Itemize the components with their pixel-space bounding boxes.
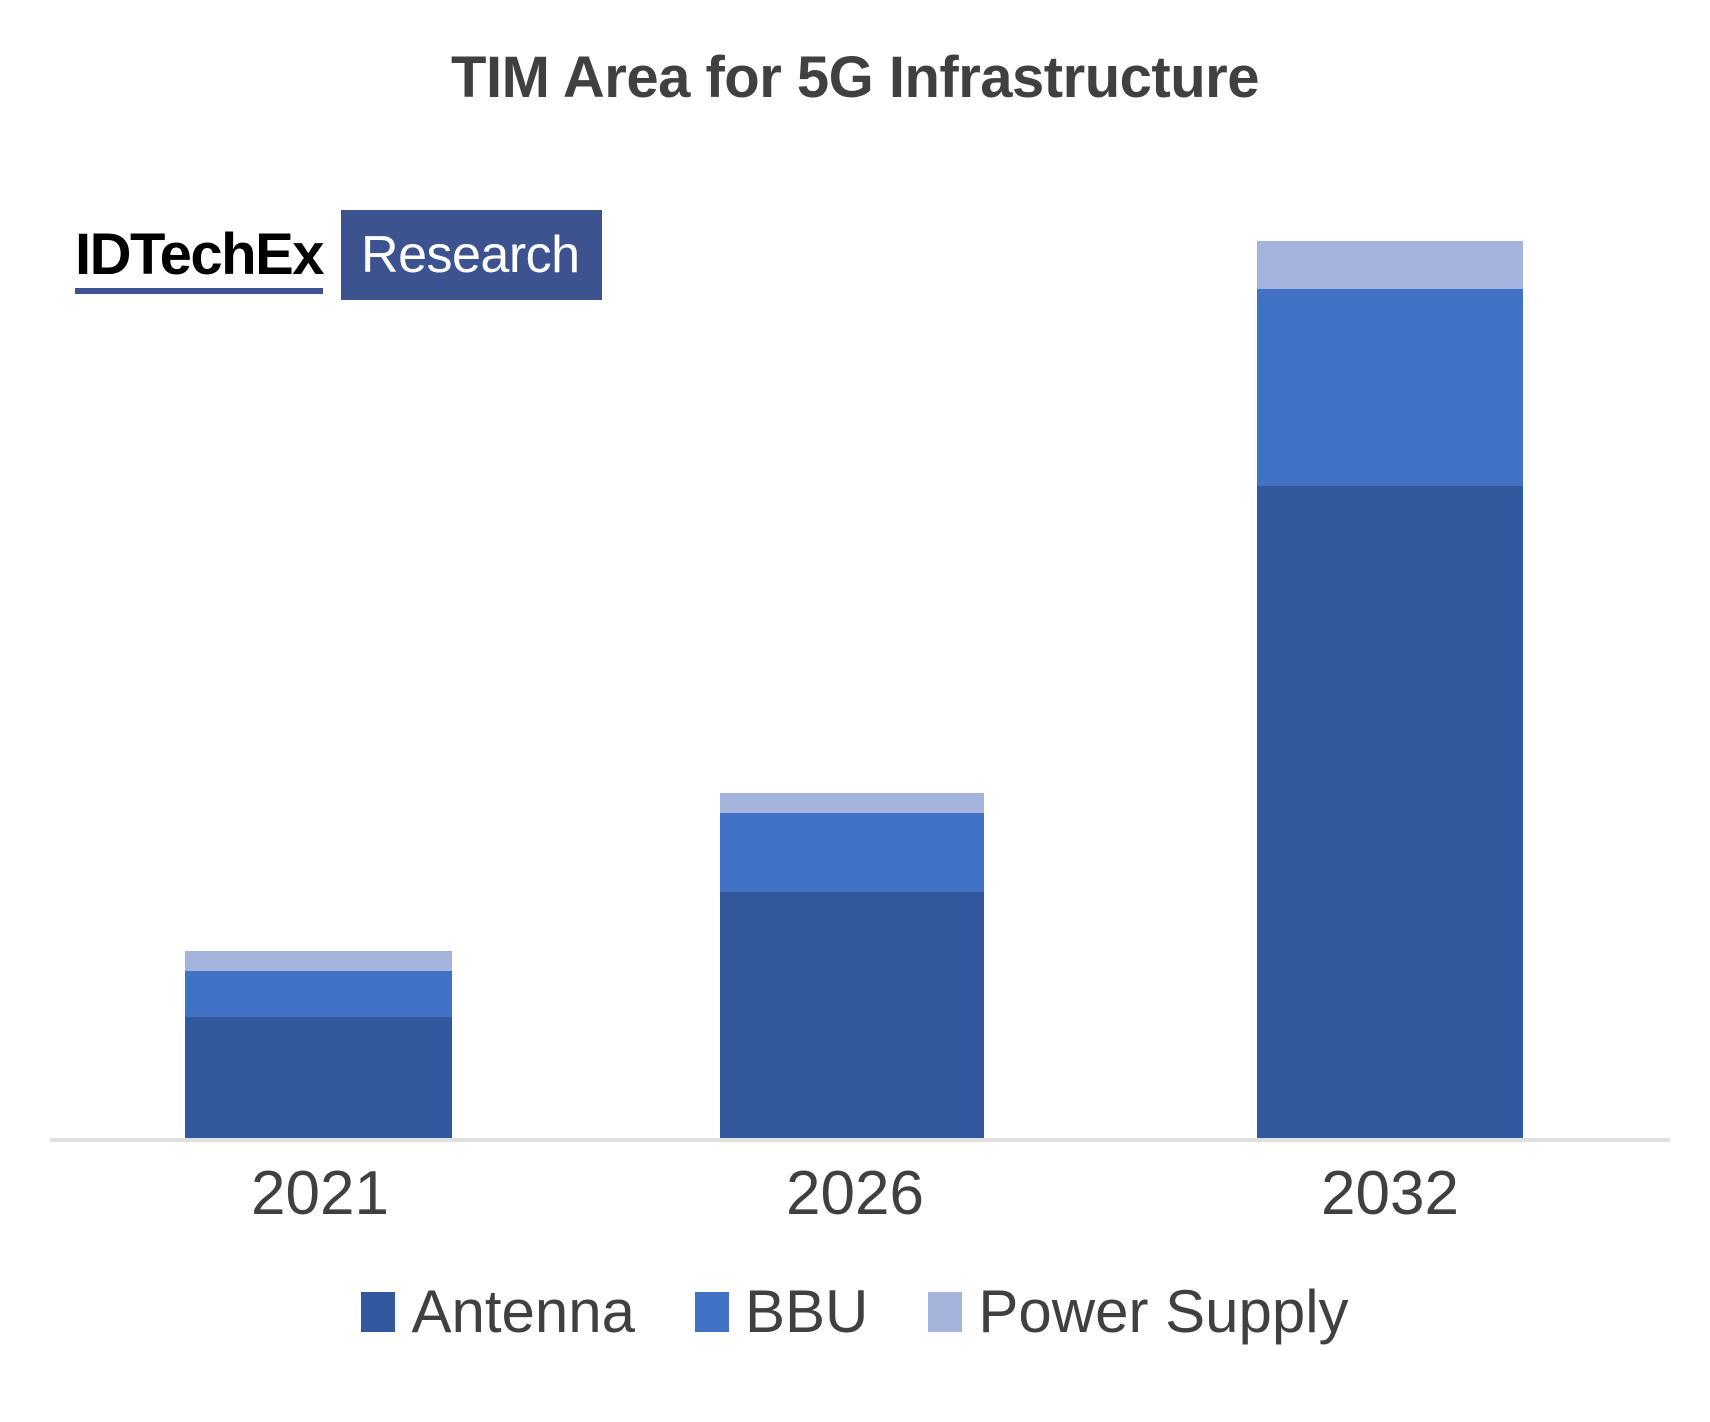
x-axis-label-2026: 2026 — [695, 1163, 1015, 1225]
bar-segment-antenna-2026 — [720, 892, 984, 1138]
chart-page: TIM Area for 5G Infrastructure IDTechEx … — [0, 0, 1710, 1422]
plot-area — [50, 230, 1670, 1142]
chart-legend: AntennaBBUPower Supply — [0, 1282, 1710, 1342]
legend-swatch-icon — [361, 1292, 395, 1332]
legend-swatch-icon — [695, 1292, 729, 1332]
legend-label: BBU — [745, 1282, 868, 1342]
bar-column-2032 — [1257, 241, 1523, 1138]
legend-swatch-icon — [928, 1292, 962, 1332]
bar-segment-power-supply-2021 — [185, 951, 452, 971]
bar-segment-antenna-2032 — [1257, 486, 1523, 1138]
page-title: TIM Area for 5G Infrastructure — [0, 46, 1710, 110]
legend-item-power-supply[interactable]: Power Supply — [928, 1282, 1348, 1342]
x-axis-line — [50, 1138, 1670, 1142]
bar-column-2026 — [720, 793, 984, 1138]
legend-label: Power Supply — [978, 1282, 1348, 1342]
bar-segment-power-supply-2026 — [720, 793, 984, 813]
bar-segment-power-supply-2032 — [1257, 241, 1523, 289]
legend-item-bbu[interactable]: BBU — [695, 1282, 868, 1342]
bar-segment-bbu-2021 — [185, 971, 452, 1017]
bar-column-2021 — [185, 951, 452, 1138]
x-axis-label-2032: 2032 — [1230, 1163, 1550, 1225]
x-axis-label-2021: 2021 — [160, 1163, 480, 1225]
legend-item-antenna[interactable]: Antenna — [361, 1282, 635, 1342]
legend-label: Antenna — [411, 1282, 635, 1342]
bar-segment-bbu-2026 — [720, 813, 984, 892]
bar-segment-bbu-2032 — [1257, 289, 1523, 486]
bar-segment-antenna-2021 — [185, 1017, 452, 1138]
